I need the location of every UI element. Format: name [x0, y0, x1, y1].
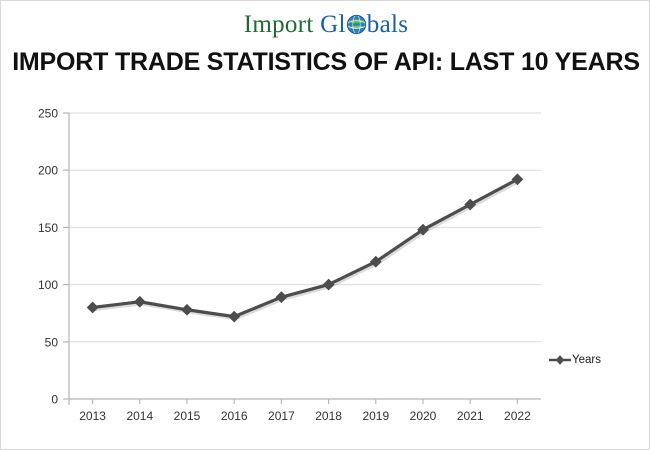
y-axis-label: 150 [38, 221, 58, 235]
logo-text-import: Import [244, 11, 314, 38]
line-chart: 0501001502002502013201420152016201720182… [1, 96, 650, 446]
logo-text-bals: bals [367, 11, 408, 38]
x-axis-label: 2020 [410, 409, 437, 423]
x-axis-label: 2014 [126, 409, 153, 423]
chart-legend: Years [549, 354, 601, 366]
chart-container: 0501001502002502013201420152016201720182… [1, 96, 650, 446]
series-line-years [93, 179, 518, 316]
x-axis-label: 2019 [362, 409, 389, 423]
legend-marker-years [549, 354, 571, 366]
y-axis-label: 200 [38, 164, 58, 178]
data-point-marker[interactable] [87, 302, 97, 312]
legend-label-years: Years [572, 354, 601, 366]
x-axis-label: 2016 [221, 409, 248, 423]
y-axis-label: 100 [38, 278, 58, 292]
y-axis-label: 50 [45, 335, 59, 349]
x-axis-label: 2015 [174, 409, 201, 423]
series-line-shadow [94, 181, 519, 318]
x-axis-label: 2018 [315, 409, 342, 423]
page-title: IMPORT TRADE STATISTICS OF API: LAST 10 … [1, 48, 650, 77]
y-axis-label: 250 [38, 107, 58, 121]
data-point-marker[interactable] [229, 311, 239, 321]
x-axis-label: 2021 [457, 409, 484, 423]
x-axis-label: 2022 [504, 409, 531, 423]
logo-text-gl: Gl [320, 11, 346, 38]
chart-page: Import Gl bals IMPORT TRADE STATISTICS O… [0, 0, 650, 450]
x-axis-label: 2013 [79, 409, 106, 423]
brand-logo: Import Gl bals [1, 11, 650, 39]
y-axis-label: 0 [51, 393, 58, 407]
globe-icon [346, 14, 367, 35]
x-axis-label: 2017 [268, 409, 295, 423]
